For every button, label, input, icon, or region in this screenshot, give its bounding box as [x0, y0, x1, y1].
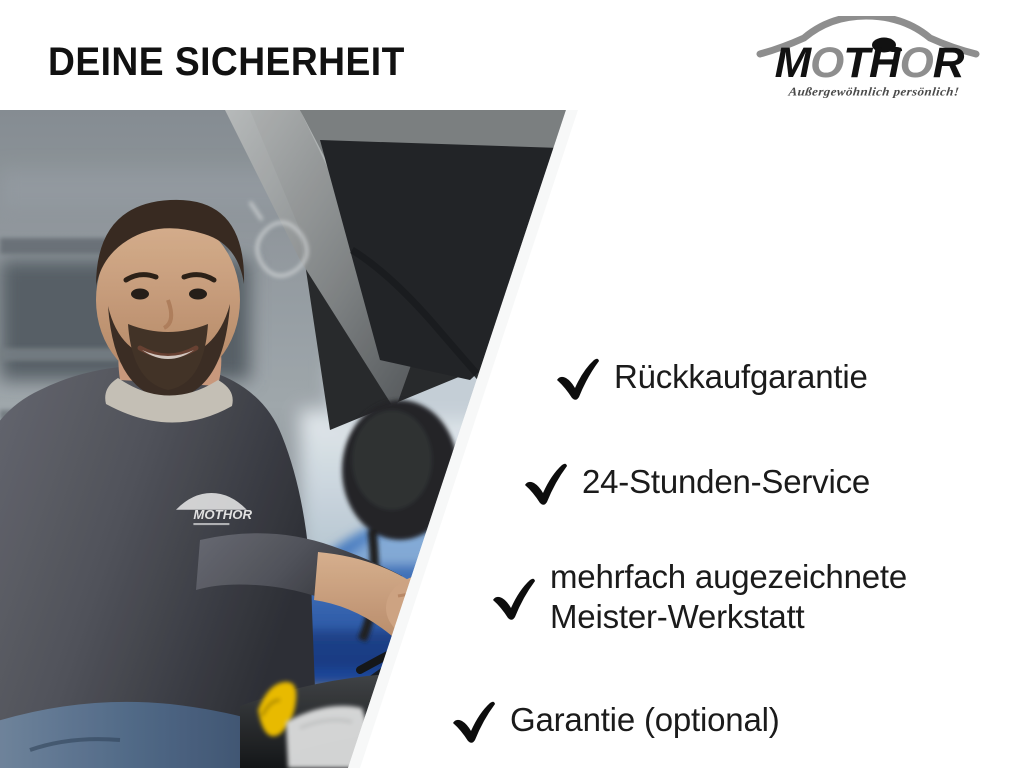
- logo-letter-r: R: [933, 39, 964, 87]
- logo-wordmark: MOTHOR: [754, 42, 985, 85]
- benefit-item-rueckkaufgarantie: Rückkaufgarantie: [552, 353, 868, 401]
- logo-tagline: Außergewöhnlich persönlich!: [765, 85, 983, 100]
- benefit-item-meister-werkstatt: mehrfach augezeichnete Meister-Werkstatt: [488, 557, 907, 638]
- logo-letter-m: M: [775, 39, 811, 87]
- mothor-logo[interactable]: MOTHOR Außergewöhnlich persönlich!: [756, 16, 982, 102]
- logo-letter-o2: O: [900, 39, 933, 87]
- benefit-label: 24-Stunden-Service: [582, 462, 870, 502]
- benefit-item-garantie-optional: Garantie (optional): [448, 696, 780, 744]
- benefit-item-24-stunden-service: 24-Stunden-Service: [520, 458, 870, 506]
- page-title: DEINE SICHERHEIT: [48, 40, 405, 85]
- check-icon: [552, 353, 600, 401]
- benefits-list: Rückkaufgarantie 24-Stunden-Service mehr…: [0, 110, 1024, 768]
- header-bar: DEINE SICHERHEIT MOTHOR Außergewöhnlich …: [0, 0, 1024, 110]
- check-icon: [520, 458, 568, 506]
- check-icon: [488, 573, 536, 621]
- logo-letters-th: TH: [843, 39, 899, 87]
- benefit-label: Garantie (optional): [510, 700, 780, 740]
- logo-letter-o1: O: [810, 39, 843, 87]
- benefit-label: Rückkaufgarantie: [614, 357, 868, 397]
- slide-canvas: MOTHOR: [0, 0, 1024, 768]
- check-icon: [448, 696, 496, 744]
- benefit-label: mehrfach augezeichnete Meister-Werkstatt: [550, 557, 907, 638]
